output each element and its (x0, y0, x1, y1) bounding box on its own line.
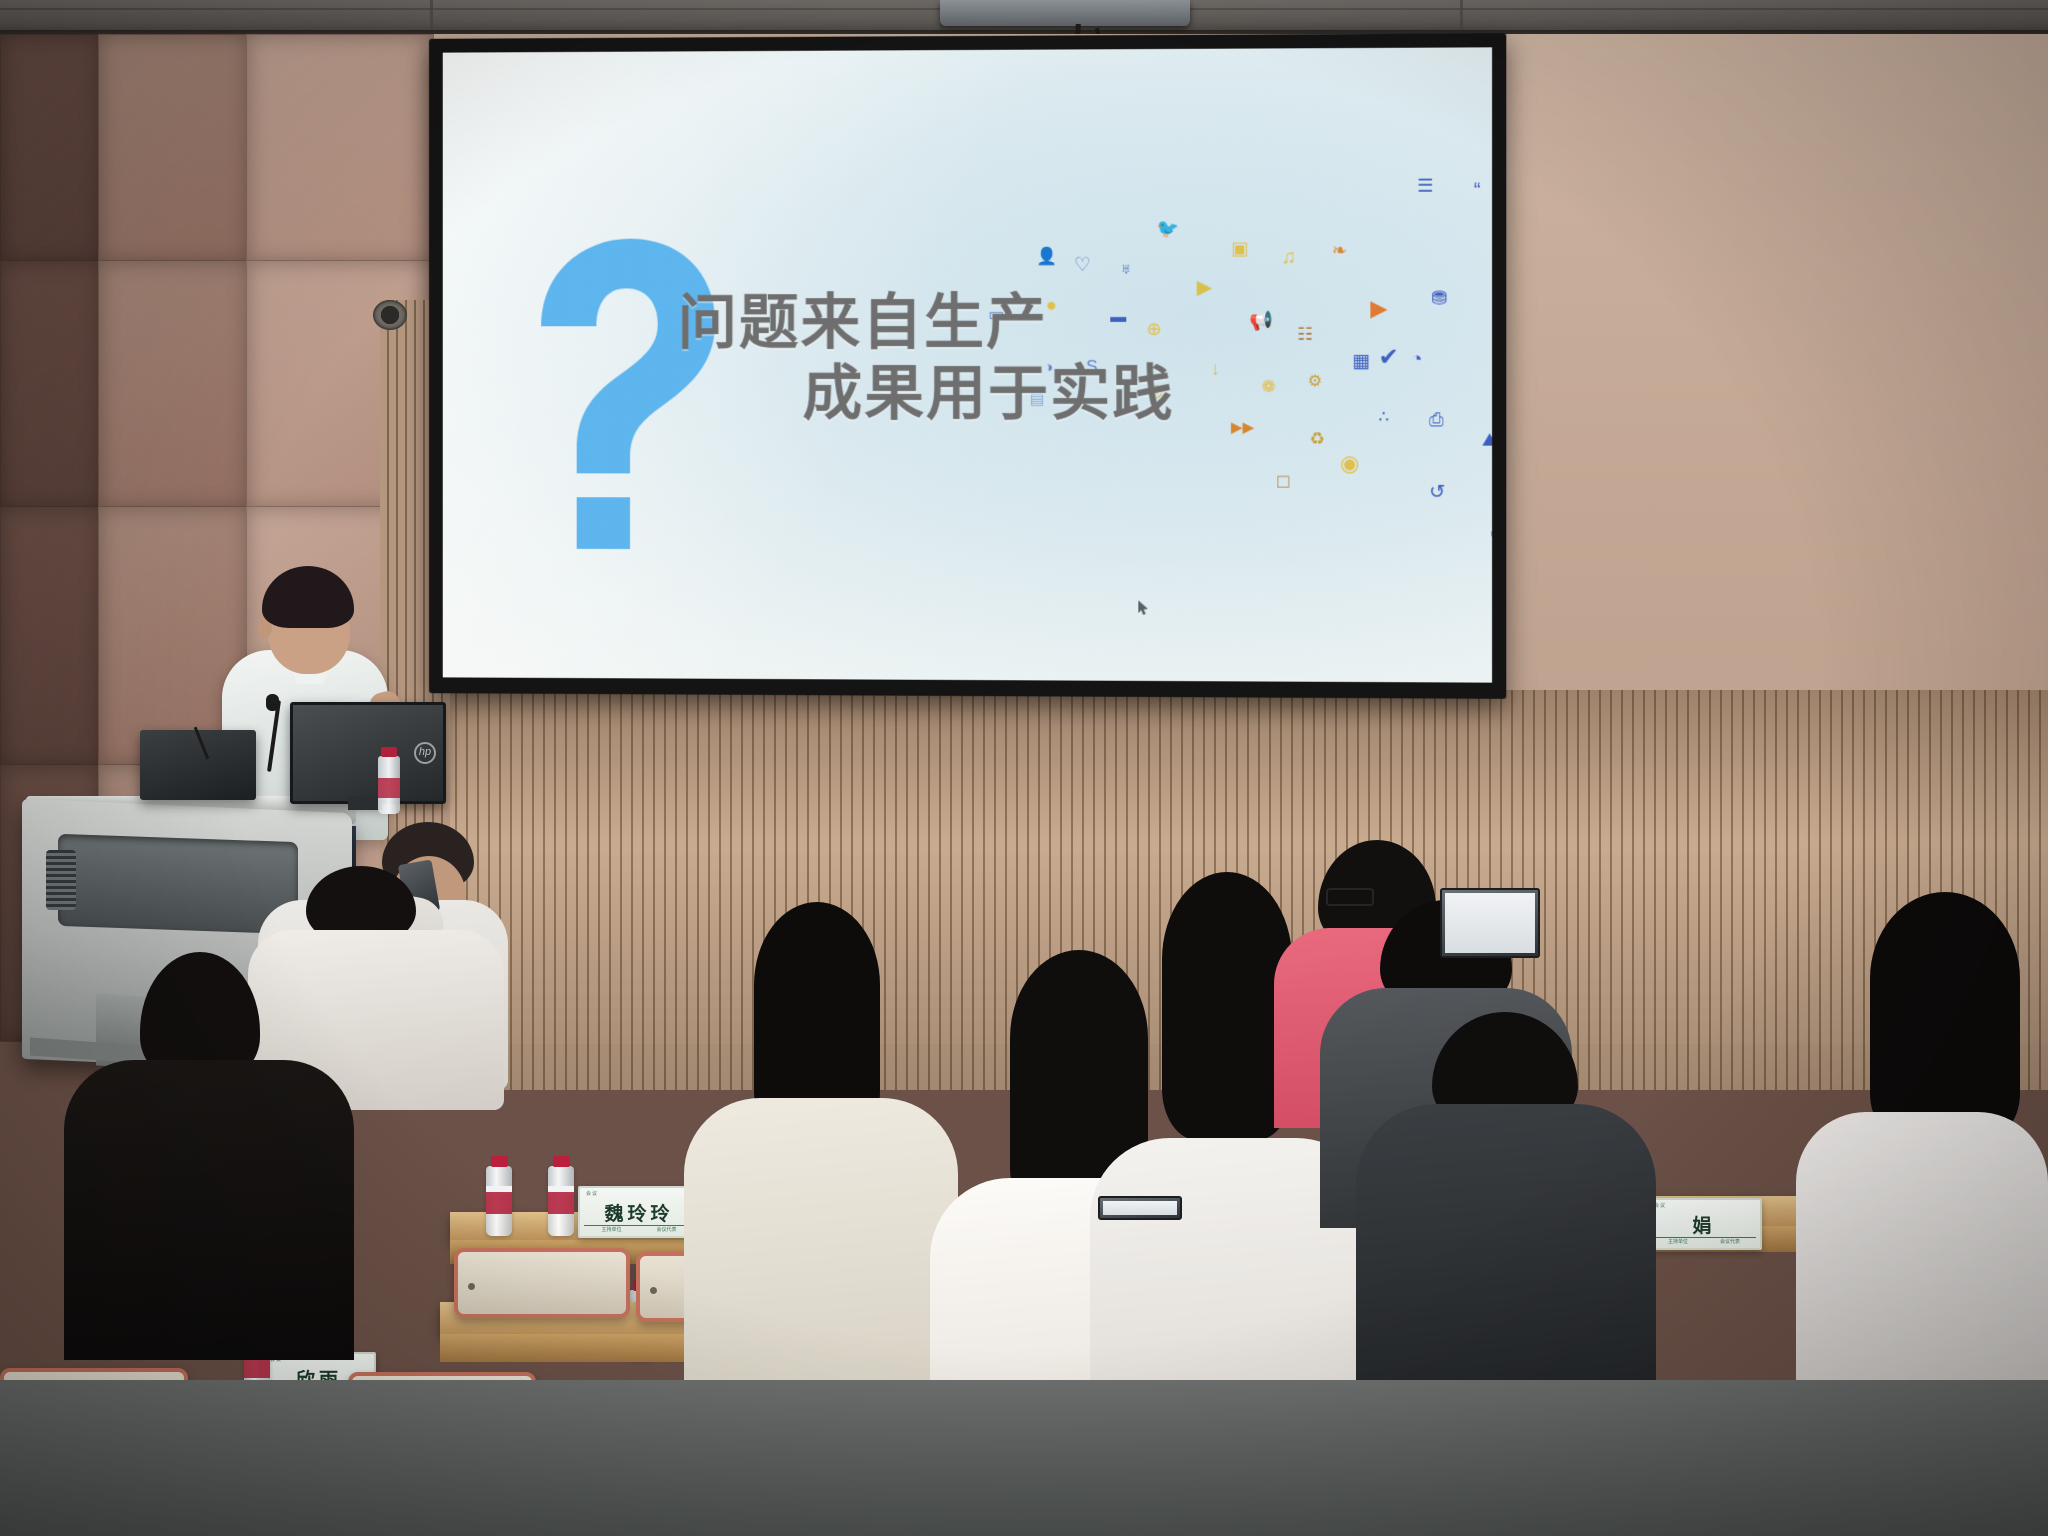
audience-torso (1796, 1112, 2048, 1412)
monitor-stand (348, 796, 382, 810)
projection-screen: 👤♡♅🐦●▭▬◑S▤⊕▣♫❧▶📢☷▶✔↓❁⚙◎▶▶♻☰“⚔◔▦⛃∴⎙📌⚲👤□◉↺… (429, 33, 1506, 699)
presentation-slide: 👤♡♅🐦●▭▬◑S▤⊕▣♫❧▶📢☷▶✔↓❁⚙◎▶▶♻☰“⚔◔▦⛃∴⎙📌⚲👤□◉↺… (443, 47, 1492, 682)
name-placard: 会议 娟 主持单位 会议代表 (1646, 1198, 1762, 1250)
microphone-head-icon (266, 694, 279, 711)
screen-surface: 👤♡♅🐦●▭▬◑S▤⊕▣♫❧▶📢☷▶✔↓❁⚙◎▶▶♻☰“⚔◔▦⛃∴⎙📌⚲👤□◉↺… (443, 47, 1492, 682)
name-placard: 会议 魏玲玲 主持单位 会议代表 (578, 1186, 700, 1238)
laptop[interactable] (1098, 1196, 1182, 1220)
lecture-hall-photo: 👤♡♅🐦●▭▬◑S▤⊕▣♫❧▶📢☷▶✔↓❁⚙◎▶▶♻☰“⚔◔▦⛃∴⎙📌⚲👤□◉↺… (0, 0, 2048, 1536)
water-bottle[interactable] (378, 756, 400, 814)
podium-control-panel[interactable] (58, 834, 298, 934)
placard-top-label: 会议 (586, 1190, 598, 1197)
placard-name: 魏玲玲 (604, 1199, 673, 1226)
screen-texture (443, 47, 1492, 682)
audience-torso (684, 1098, 958, 1398)
water-bottle[interactable] (486, 1166, 512, 1236)
water-bottle[interactable] (548, 1166, 574, 1236)
ceiling-projector (940, 0, 1190, 26)
audience-torso (1356, 1104, 1656, 1404)
floor (0, 1380, 2048, 1536)
placard-footer-right: 会议代表 (1720, 1238, 1740, 1245)
audience-torso (64, 1060, 354, 1360)
placard-name: 娟 (1692, 1211, 1715, 1238)
laptop[interactable] (1440, 888, 1540, 958)
podium-speaker-grill (46, 850, 76, 910)
glasses-icon (1326, 888, 1374, 906)
audience-head (1870, 892, 2020, 1142)
placard-footer-left: 主持单位 (1668, 1238, 1688, 1245)
placard-footer-right: 会议代表 (656, 1226, 676, 1233)
hp-logo-icon: hp (414, 742, 436, 764)
wall-speaker-icon (373, 300, 407, 330)
audience-head (1162, 872, 1292, 1140)
placard-footer-left: 主持单位 (601, 1226, 621, 1233)
seat-back[interactable] (454, 1248, 630, 1318)
